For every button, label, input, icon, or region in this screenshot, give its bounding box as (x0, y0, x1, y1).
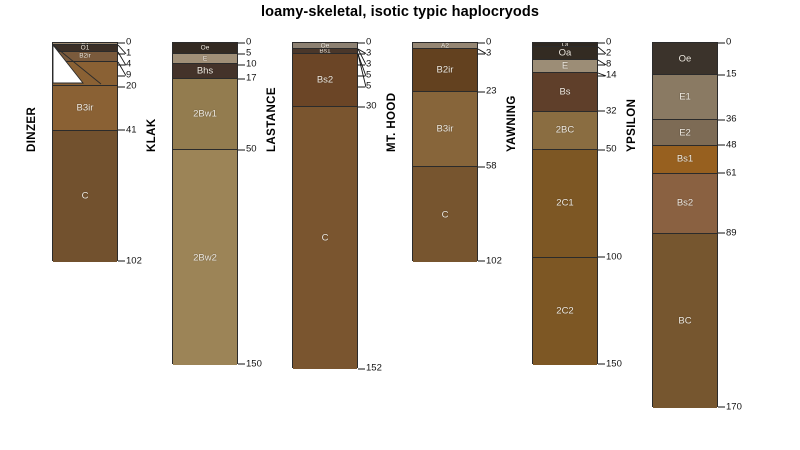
horizon-band[interactable]: Bs2 (293, 54, 357, 108)
depth-tick-label: 58 (478, 161, 497, 172)
profile-column[interactable]: OeE1E2Bs1Bs2BC (652, 42, 718, 407)
depth-tick-label: 102 (478, 255, 502, 266)
horizon-label: Bs2 (653, 198, 717, 209)
depth-tick-label: 50 (238, 144, 257, 155)
profile-column[interactable]: A2B2irB3irC (412, 42, 478, 261)
page-title: loamy-skeletal, isotic typic haplocryods (0, 4, 800, 20)
horizon-label: E (533, 61, 597, 72)
horizon-label: Oa (533, 48, 597, 59)
horizon-label: Bs (533, 86, 597, 97)
depth-tick-label: 100 (598, 251, 622, 262)
horizon-label: 2Bw2 (173, 252, 237, 263)
horizon-label: C (293, 233, 357, 244)
depth-tick-label: 152 (358, 363, 382, 374)
horizon-band[interactable]: 2C2 (533, 258, 597, 365)
horizon-band[interactable]: Bhs (173, 64, 237, 79)
depth-tick-label: 0 (598, 37, 611, 48)
horizon-band[interactable]: Oa (533, 47, 597, 60)
depth-tick-label: 32 (598, 105, 617, 116)
depth-tick-label: 2 (598, 48, 611, 59)
depth-tick-label: 89 (718, 227, 737, 238)
depth-tick-label: 20 (118, 81, 137, 92)
depth-tick-label: 36 (718, 114, 737, 125)
depth-tick-label: 4 (118, 59, 131, 70)
horizon-band[interactable]: 2BC (533, 112, 597, 151)
depth-tick-label: 10 (238, 59, 257, 70)
horizon-label: Bs2 (293, 75, 357, 86)
depth-tick-label: 0 (118, 37, 131, 48)
horizon-band[interactable]: BC (653, 234, 717, 408)
horizon-band[interactable]: Bs2 (653, 174, 717, 234)
horizon-label: Bs1 (653, 154, 717, 165)
horizon-label: 2C1 (533, 198, 597, 209)
horizon-label: E (173, 55, 237, 62)
horizon-band[interactable]: 2C1 (533, 150, 597, 257)
depth-tick-label: 48 (718, 139, 737, 150)
horizon-label: B3ir (413, 124, 477, 135)
depth-tick-label: 41 (118, 124, 137, 135)
horizon-band[interactable]: C (413, 167, 477, 261)
horizon-band[interactable]: B2ir (413, 49, 477, 92)
horizon-band[interactable]: E1 (653, 75, 717, 120)
depth-tick-label: 5 (358, 70, 371, 81)
profile-column[interactable]: A2O1B2irB3irC (52, 42, 118, 261)
horizon-label: Oe (173, 44, 237, 51)
horizon-band[interactable]: 2Bw2 (173, 150, 237, 365)
depth-tick-label: 5 (358, 81, 371, 92)
profile-column[interactable]: OeBs1Bs2C (292, 42, 358, 368)
horizon-label: Oe (293, 43, 357, 49)
depth-tick-label: 3 (478, 48, 491, 59)
depth-tick-label: 3 (358, 48, 371, 59)
horizon-band[interactable]: B3ir (53, 86, 117, 131)
horizon-band[interactable]: E (173, 54, 237, 65)
profile-column[interactable]: OiOaEBs2BC2C12C2 (532, 42, 598, 364)
horizon-band[interactable]: C (293, 107, 357, 369)
horizon-label: 2Bw1 (173, 109, 237, 120)
depth-tick-label: 150 (598, 358, 622, 369)
depth-tick-label: 61 (718, 167, 737, 178)
profile-name-label: DINZER (26, 42, 38, 152)
depth-tick-label: 9 (118, 70, 131, 81)
depth-tick-label: 170 (718, 401, 742, 412)
horizon-label: Bhs (173, 66, 237, 77)
horizon-label: B3ir (53, 102, 117, 113)
horizon-band[interactable]: B3ir (413, 92, 477, 167)
horizon-band[interactable]: E (533, 60, 597, 73)
dinzer-wedge-overlay (53, 43, 119, 87)
horizon-band[interactable]: Bs (533, 73, 597, 112)
horizon-label: C (413, 209, 477, 220)
horizon-label: 2C2 (533, 306, 597, 317)
horizon-label: Oe (653, 53, 717, 64)
depth-tick-label: 5 (238, 48, 251, 59)
horizon-label: E1 (653, 92, 717, 103)
profile-column[interactable]: OeEBhs2Bw12Bw2 (172, 42, 238, 364)
horizon-band[interactable]: C (53, 131, 117, 262)
horizon-label: BC (653, 315, 717, 326)
depth-tick-label: 150 (238, 358, 262, 369)
depth-tick-label: 23 (478, 86, 497, 97)
depth-tick-label: 0 (358, 37, 371, 48)
profile-name-label: KLAK (146, 42, 158, 152)
depth-tick-label: 0 (478, 37, 491, 48)
profile-name-label: YAWNING (506, 42, 518, 152)
profile-name-label: YPSILON (626, 42, 638, 152)
horizon-band[interactable]: Oe (173, 43, 237, 54)
horizon-label: B2ir (413, 65, 477, 76)
horizon-label: C (53, 191, 117, 202)
profile-name-label: LASTANCE (266, 42, 278, 152)
horizon-band[interactable]: 2Bw1 (173, 79, 237, 150)
depth-tick-label: 30 (358, 101, 377, 112)
depth-tick-label: 50 (598, 144, 617, 155)
profile-name-label: MT. HOOD (386, 42, 398, 152)
horizon-band[interactable]: Bs1 (653, 146, 717, 174)
horizon-label: 2BC (533, 125, 597, 136)
depth-tick-label: 3 (358, 59, 371, 70)
depth-tick-label: 0 (718, 37, 731, 48)
depth-tick-label: 15 (718, 69, 737, 80)
horizon-label: A2 (413, 43, 477, 49)
horizon-band[interactable]: Oe (653, 43, 717, 75)
depth-tick-label: 0 (238, 37, 251, 48)
horizon-band[interactable]: E2 (653, 120, 717, 146)
depth-tick-label: 17 (238, 73, 257, 84)
horizon-label: E2 (653, 127, 717, 138)
depth-tick-label: 102 (118, 255, 142, 266)
depth-tick-label: 14 (598, 70, 617, 81)
soil-profile-diagram: loamy-skeletal, isotic typic haplocryods… (0, 0, 800, 450)
depth-tick-label: 1 (118, 48, 131, 59)
depth-tick-label: 8 (598, 59, 611, 70)
